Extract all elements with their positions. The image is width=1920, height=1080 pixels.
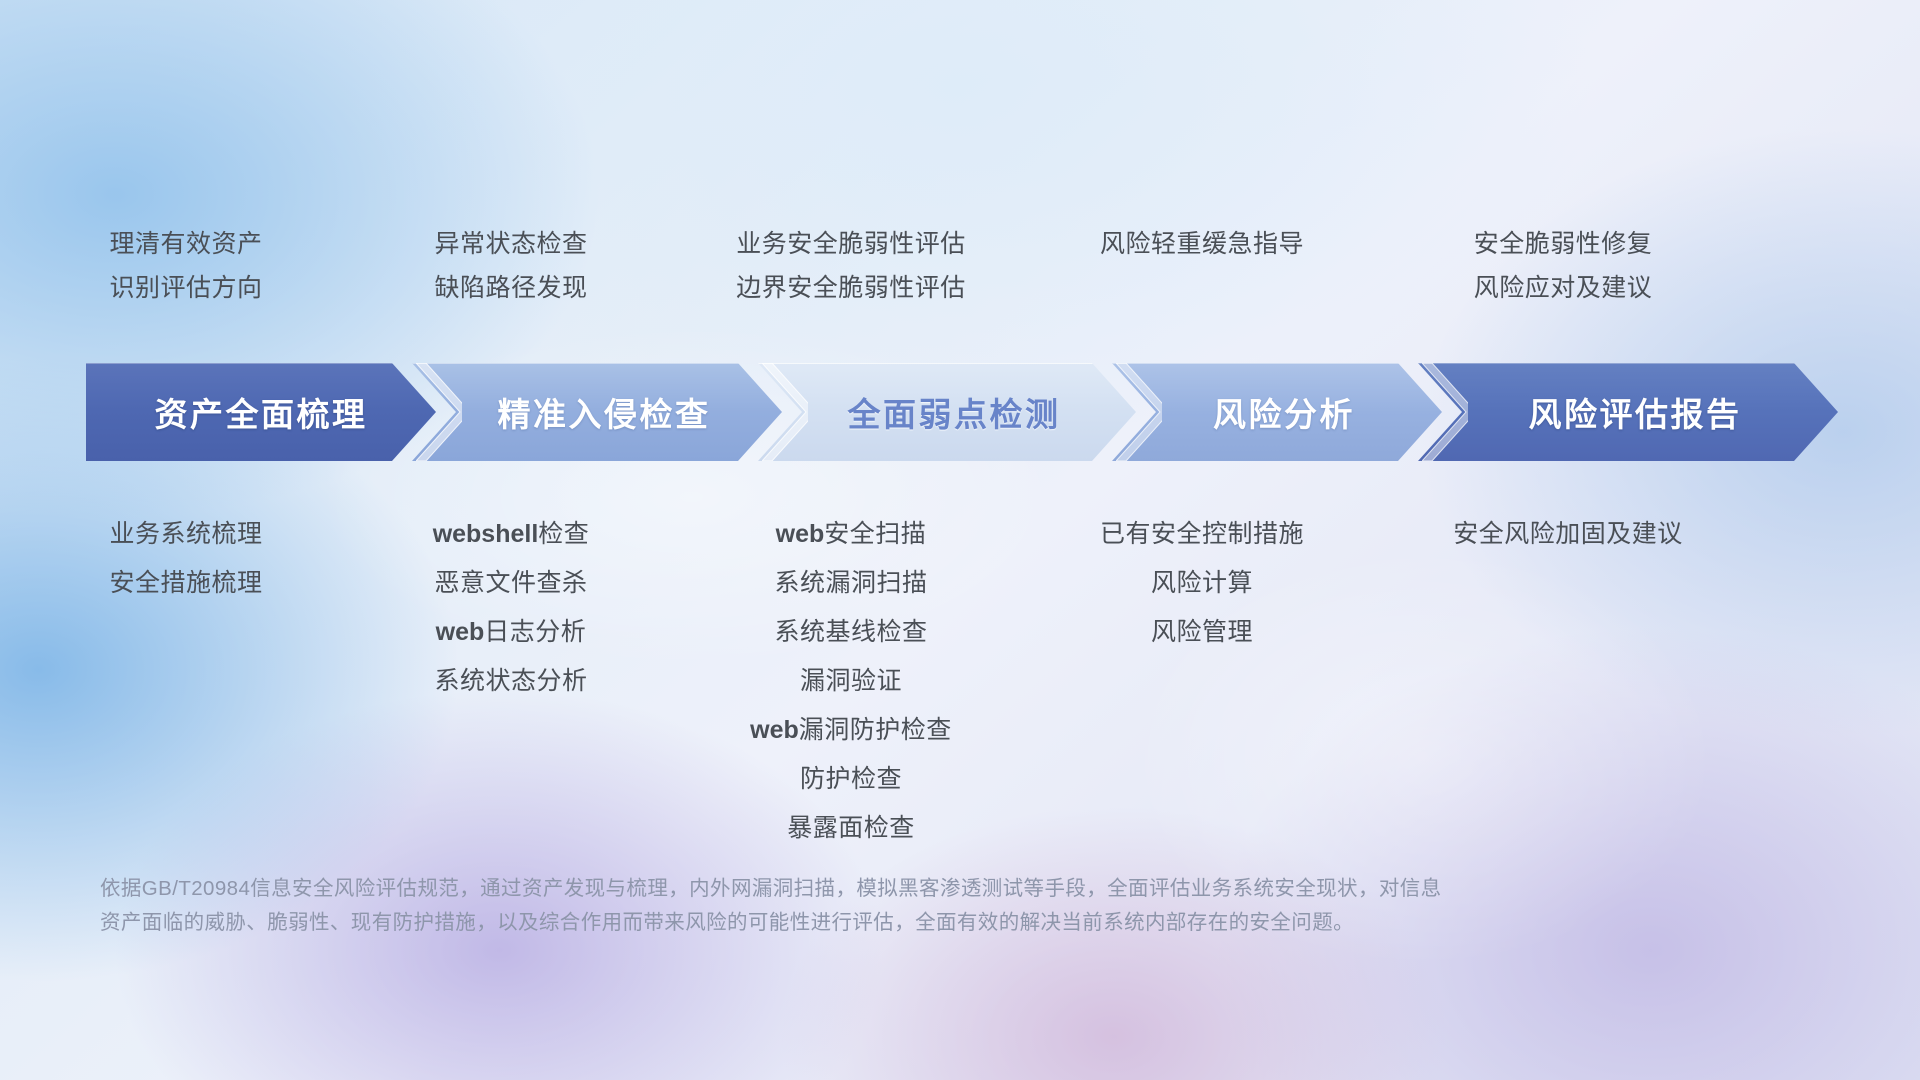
bottom-label-text: 系统状态分析: [346, 657, 676, 706]
top-label-text: 边界安全脆弱性评估: [676, 266, 1026, 310]
bottom-label-text: 风险管理: [1026, 608, 1378, 657]
bottom-label-text: 系统漏洞扫描: [676, 559, 1026, 608]
bottom-label-text: 恶意文件查杀: [346, 559, 676, 608]
top-label-text: 风险轻重缓急指导: [1026, 222, 1378, 266]
bottom-label-text: webshell检查: [346, 510, 676, 559]
stage-arrow-4-label: 风险分析: [1199, 388, 1355, 436]
stage-arrow-2[interactable]: 精准入侵检查: [412, 363, 782, 461]
stage-arrow-3[interactable]: 全面弱点检测: [758, 363, 1136, 461]
bottom-label-group-1: 业务系统梳理 安全措施梳理: [26, 510, 346, 608]
bottom-label-text: 安全措施梳理: [26, 559, 346, 608]
bottom-label-row: 业务系统梳理 安全措施梳理 webshell检查 恶意文件查杀 web日志分析 …: [0, 510, 1920, 840]
bottom-label-text: 安全风险加固及建议: [1378, 510, 1758, 559]
top-label-text: 业务安全脆弱性评估: [676, 222, 1026, 266]
stage-arrow-3-label: 全面弱点检测: [834, 388, 1061, 436]
top-label-text: 异常状态检查: [346, 222, 676, 266]
stage-arrow-2-label: 精准入侵检查: [484, 388, 711, 436]
bottom-label-text: web安全扫描: [676, 510, 1026, 559]
bottom-label-text: 已有安全控制措施: [1026, 510, 1378, 559]
stage-arrow-4[interactable]: 风险分析: [1112, 363, 1442, 461]
bottom-label-text: 业务系统梳理: [26, 510, 346, 559]
bottom-label-text: 暴露面检查: [676, 804, 1026, 853]
bottom-label-group-3: web安全扫描 系统漏洞扫描 系统基线检查 漏洞验证 web漏洞防护检查 防护检…: [676, 510, 1026, 853]
top-label-text: 识别评估方向: [26, 266, 346, 310]
top-label-group-2: 异常状态检查 缺陷路径发现: [346, 222, 676, 332]
slide-canvas: 理清有效资产 识别评估方向 异常状态检查 缺陷路径发现 业务安全脆弱性评估 边界…: [0, 0, 1920, 1080]
process-arrow-band: 资产全面梳理 精准入侵检查 全面弱点检测 风险分析 风险评估报告: [86, 363, 1838, 461]
bottom-label-text: web漏洞防护检查: [676, 706, 1026, 755]
bottom-label-text: 系统基线检查: [676, 608, 1026, 657]
bottom-label-text: 风险计算: [1026, 559, 1378, 608]
footer-line-1: 依据GB/T20984信息安全风险评估规范，通过资产发现与梳理，内外网漏洞扫描，…: [100, 872, 1720, 906]
stage-arrow-1[interactable]: 资产全面梳理: [86, 363, 436, 461]
top-label-text: 缺陷路径发现: [346, 266, 676, 310]
bottom-label-text: 漏洞验证: [676, 657, 1026, 706]
stage-arrow-5[interactable]: 风险评估报告: [1418, 363, 1838, 461]
top-label-group-5: 安全脆弱性修复 风险应对及建议: [1378, 222, 1748, 332]
top-label-row: 理清有效资产 识别评估方向 异常状态检查 缺陷路径发现 业务安全脆弱性评估 边界…: [0, 222, 1920, 332]
bottom-label-group-5: 安全风险加固及建议: [1378, 510, 1758, 559]
bottom-label-group-4: 已有安全控制措施 风险计算 风险管理: [1026, 510, 1378, 657]
top-label-text: 安全脆弱性修复: [1378, 222, 1748, 266]
top-label-group-4: 风险轻重缓急指导: [1026, 222, 1378, 332]
top-label-text: 风险应对及建议: [1378, 266, 1748, 310]
top-label-group-1: 理清有效资产 识别评估方向: [26, 222, 346, 332]
bottom-label-text: web日志分析: [346, 608, 676, 657]
top-label-group-3: 业务安全脆弱性评估 边界安全脆弱性评估: [676, 222, 1026, 332]
footer-description: 依据GB/T20984信息安全风险评估规范，通过资产发现与梳理，内外网漏洞扫描，…: [100, 872, 1720, 940]
footer-line-2: 资产面临的威胁、脆弱性、现有防护措施，以及综合作用而带来风险的可能性进行评估，全…: [100, 906, 1720, 940]
stage-arrow-5-label: 风险评估报告: [1515, 388, 1742, 436]
stage-arrow-1-label: 资产全面梳理: [155, 388, 368, 436]
bottom-label-group-2: webshell检查 恶意文件查杀 web日志分析 系统状态分析: [346, 510, 676, 706]
bottom-label-text: 防护检查: [676, 755, 1026, 804]
top-label-text: 理清有效资产: [26, 222, 346, 266]
